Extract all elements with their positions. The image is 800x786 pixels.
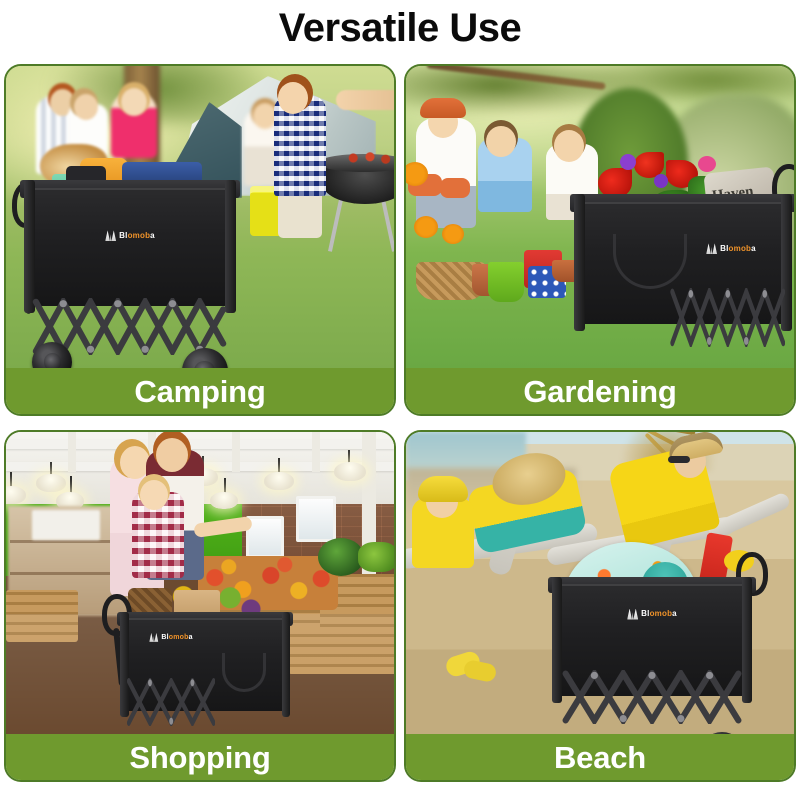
mountain-m-logo-icon [706,243,717,254]
panel-grid: Blomoba [4,64,796,782]
grill-leg-right [380,194,394,252]
wagon-x-frame [127,678,215,726]
wagon-brand-text: Blomoba [119,232,155,240]
wagon-x-frame [670,288,786,347]
ceiling-strut-4 [312,432,320,472]
versatile-use-infographic: Versatile Use [0,0,800,786]
pendant-lamp-7 [334,462,366,481]
wagon-brand-logo: Blomoba [149,633,192,642]
window-right [296,496,336,542]
wagon-corner-post-right [742,577,752,703]
wagon-x-frame [562,670,742,724]
girl-head [554,130,584,162]
folding-wagon-beach: Blomoba [552,584,752,734]
wagon-corner-post-left [552,577,562,703]
woman-orange-hat [420,98,466,118]
photo-camping: Blomoba [6,66,394,368]
mountain-m-logo-icon [149,633,158,642]
folding-wagon-shopping: Blomoba [120,618,290,734]
mountain-m-logo-icon [627,609,638,620]
ceiling-strut-3 [232,432,240,472]
wagon-brand-logo: Blomoba [627,609,677,620]
wagon-brand-logo: Blomoba [706,243,756,254]
wagon-brand-text: Blomoba [641,610,677,618]
pendant-lamp-1 [36,474,66,492]
purple-flower-1 [620,154,636,170]
label-bar-gardening: Gardening [406,368,794,414]
flip-flop-2 [462,659,497,683]
man-head [156,438,188,472]
pink-flower-1 [698,156,716,172]
wagon-corner-post-left [24,180,35,313]
photo-beach: Blomoba [406,432,794,734]
gardening-glove-right [440,178,470,198]
woman-pink-head [121,88,147,116]
label-bar-beach: Beach [406,734,794,780]
photo-shopping: Blomoba [6,432,394,734]
wagon-corner-post-right [225,180,236,313]
wagon-brand-logo: Blomoba [105,230,155,241]
panel-gardening[interactable]: Haven Blomoba [404,64,796,416]
wagon-brand-text: Blomoba [161,634,192,641]
sunglasses-icon [668,456,690,463]
marigold-flower-3 [442,224,464,244]
boy-head [486,126,516,157]
purple-flower-2 [654,174,668,188]
panel-beach[interactable]: Blomoba [404,430,796,782]
wagon-side-pocket [222,653,266,692]
wagon-side-pocket [613,234,687,290]
panel-camping[interactable]: Blomoba [4,64,396,416]
folding-wagon-camping: Blomoba [24,188,236,368]
scene-shopping-background: Blomoba [6,432,394,734]
green-bucket [488,262,524,302]
pendant-lamp-5 [210,492,238,509]
panel-shopping[interactable]: Blomoba [4,430,396,782]
wagon-fabric-body: Blomoba [24,188,236,306]
grill-food [342,152,394,164]
lettuce [358,542,394,572]
panel-label-beach: Beach [554,742,646,773]
marigold-flower-2 [414,216,438,238]
panel-label-gardening: Gardening [523,376,676,407]
panel-label-camping: Camping [134,376,265,407]
scene-gardening-background: Haven Blomoba [406,66,794,368]
shelf-sign [32,510,100,540]
ceiling-strut-1 [68,432,76,472]
scene-beach-background: Blomoba [406,432,794,734]
adult-arm [336,90,394,110]
photo-gardening: Haven Blomoba [406,66,794,368]
pendant-lamp-6 [264,472,294,490]
boy-head [278,82,308,114]
wagon-corner-post-right [282,612,291,717]
grill-leg-left [328,194,344,252]
folding-wagon-gardening: Blomoba [574,202,792,368]
child-sun-hat [418,476,468,502]
child-head [74,94,98,120]
wagon-brand-text: Blomoba [720,245,756,253]
panel-label-shopping: Shopping [129,742,270,773]
label-bar-shopping: Shopping [6,734,394,780]
mountain-m-logo-icon [105,230,116,241]
ceiling-beam-1 [6,440,394,449]
scene-camping-background: Blomoba [6,66,394,368]
wagon-corner-post-left [574,194,585,331]
page-title: Versatile Use [0,0,800,60]
girl-head [140,480,168,510]
label-bar-camping: Camping [6,368,394,414]
